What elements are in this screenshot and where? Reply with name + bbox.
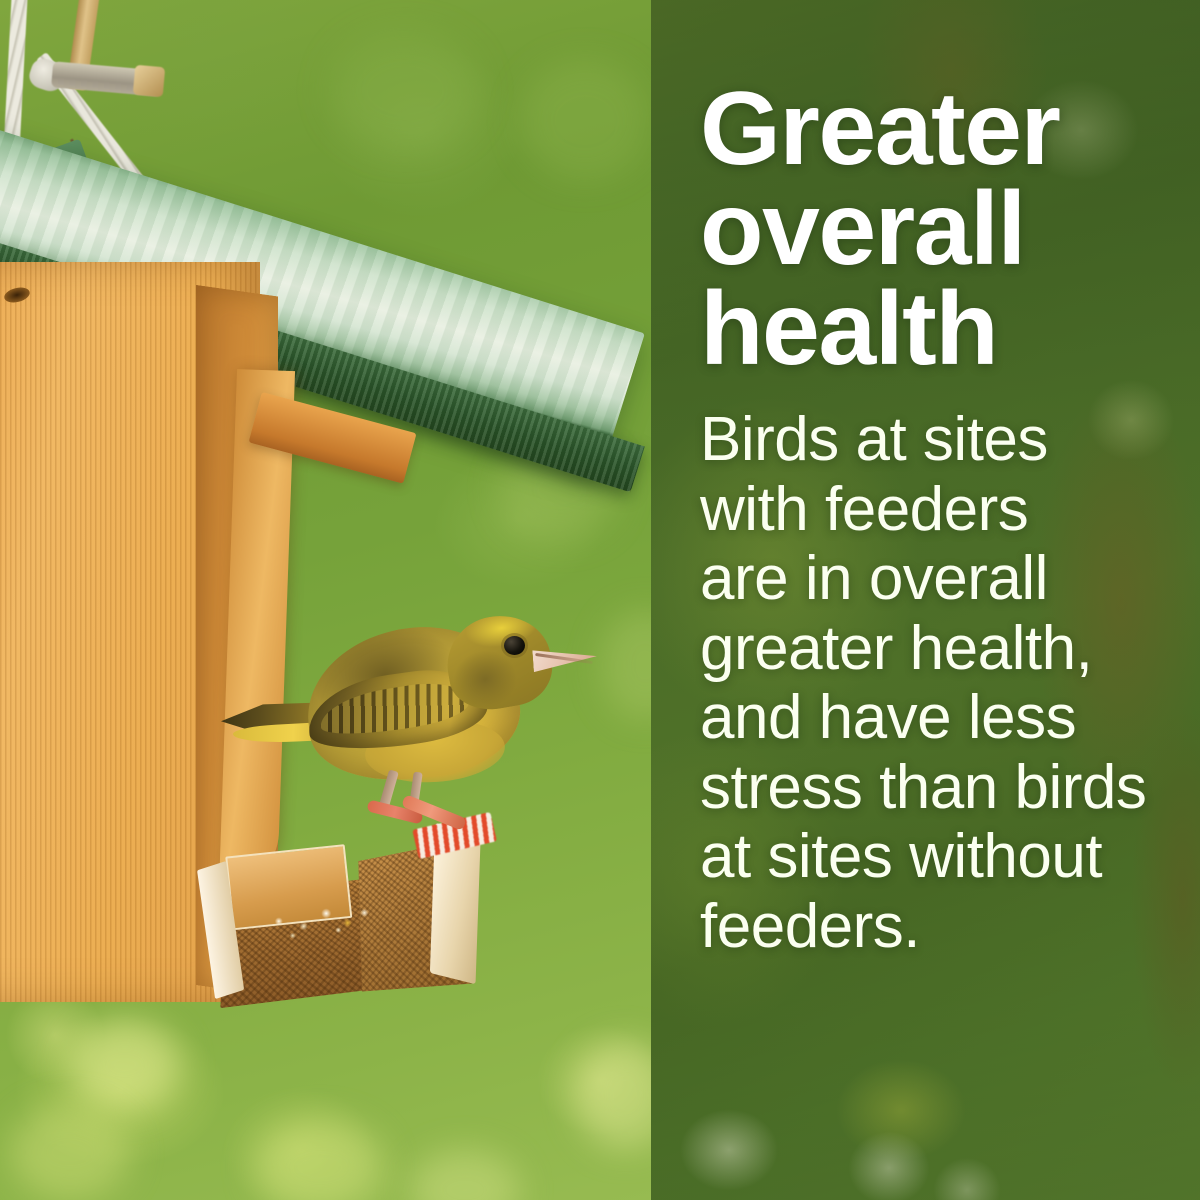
body-copy: Birds at sites with feeders are in overa… [700,405,1200,961]
bird-eye [504,636,525,655]
body-line-1: Birds at sites [700,405,1200,474]
body-line-7: at sites without [700,822,1200,891]
bokeh-highlight [520,60,650,180]
feeder-seed-tray [199,822,500,1012]
body-line-2: with feeders [700,475,1200,544]
bokeh-highlight [600,610,651,720]
text-content-block: Greater overall health Birds at sites wi… [700,80,1200,961]
dowel-end-cap [133,65,166,98]
body-line-6: stress than birds [700,753,1200,822]
headline: Greater overall health [700,80,1200,379]
headline-line-3: health [700,280,1200,380]
body-line-3: are in overall [700,544,1200,613]
body-line-4: greater health, [700,614,1200,683]
bokeh-highlight [575,1040,651,1150]
bokeh-highlight [10,1105,130,1200]
bokeh-highlight [330,30,480,150]
body-line-8: feeders. [700,892,1200,961]
text-panel: Greater overall health Birds at sites wi… [651,0,1200,1200]
headline-line-1: Greater [700,80,1200,180]
greenfinch-bird [215,600,585,850]
bokeh-highlight [70,1020,180,1110]
body-line-5: and have less [700,683,1200,752]
headline-line-2: overall [700,180,1200,280]
poster-root: Greater overall health Birds at sites wi… [0,0,1200,1200]
hanging-rope [4,0,28,140]
bokeh-highlight [255,1120,385,1200]
bird-feeder-photo [0,0,651,1200]
bokeh-highlight [410,1150,520,1200]
